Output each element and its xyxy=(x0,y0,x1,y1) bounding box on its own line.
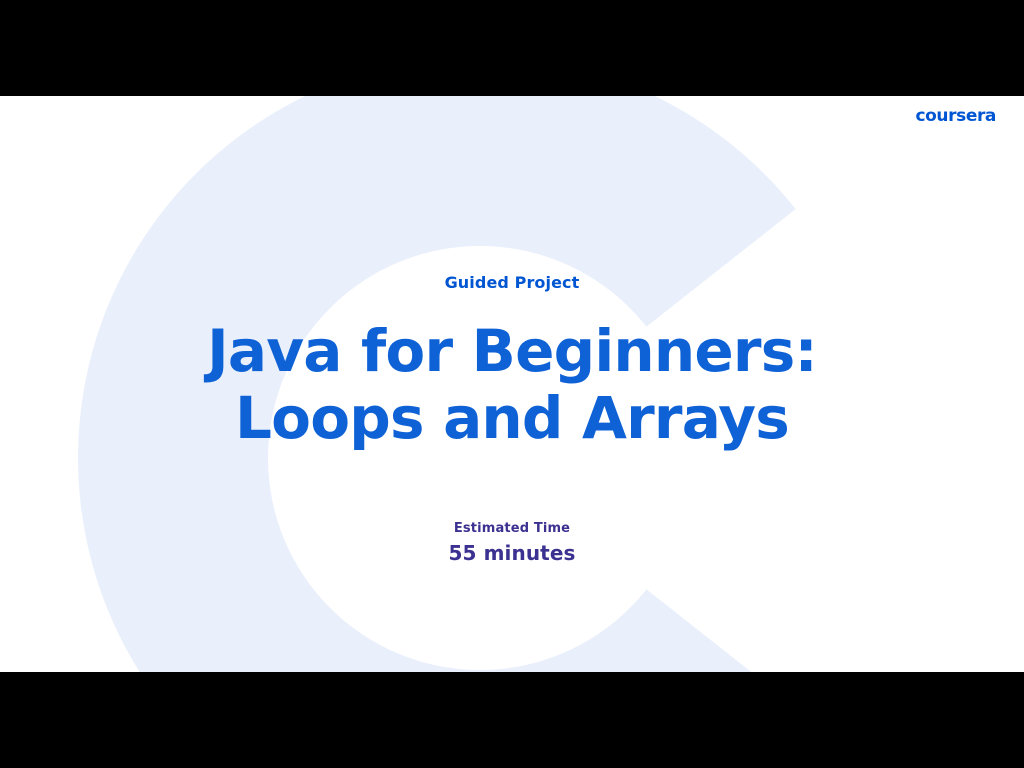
slide-title: Java for Beginners: Loops and Arrays xyxy=(207,318,817,454)
slide-canvas: coursera Guided Project Java for Beginne… xyxy=(0,96,1024,672)
estimated-time-block: Estimated Time 55 minutes xyxy=(449,521,576,565)
video-player-frame: coursera Guided Project Java for Beginne… xyxy=(0,0,1024,768)
slide-eyebrow-label: Guided Project xyxy=(445,274,580,292)
estimated-time-label: Estimated Time xyxy=(454,521,570,537)
letterbox-bar-bottom xyxy=(0,672,1024,768)
slide-title-line-2: Loops and Arrays xyxy=(207,385,817,453)
coursera-wordmark: coursera xyxy=(915,108,996,125)
slide-content: Guided Project Java for Beginners: Loops… xyxy=(0,96,1024,672)
estimated-time-value: 55 minutes xyxy=(449,541,576,565)
slide-title-line-1: Java for Beginners: xyxy=(207,318,817,386)
coursera-logo: coursera xyxy=(915,108,996,125)
letterbox-bar-top xyxy=(0,0,1024,96)
